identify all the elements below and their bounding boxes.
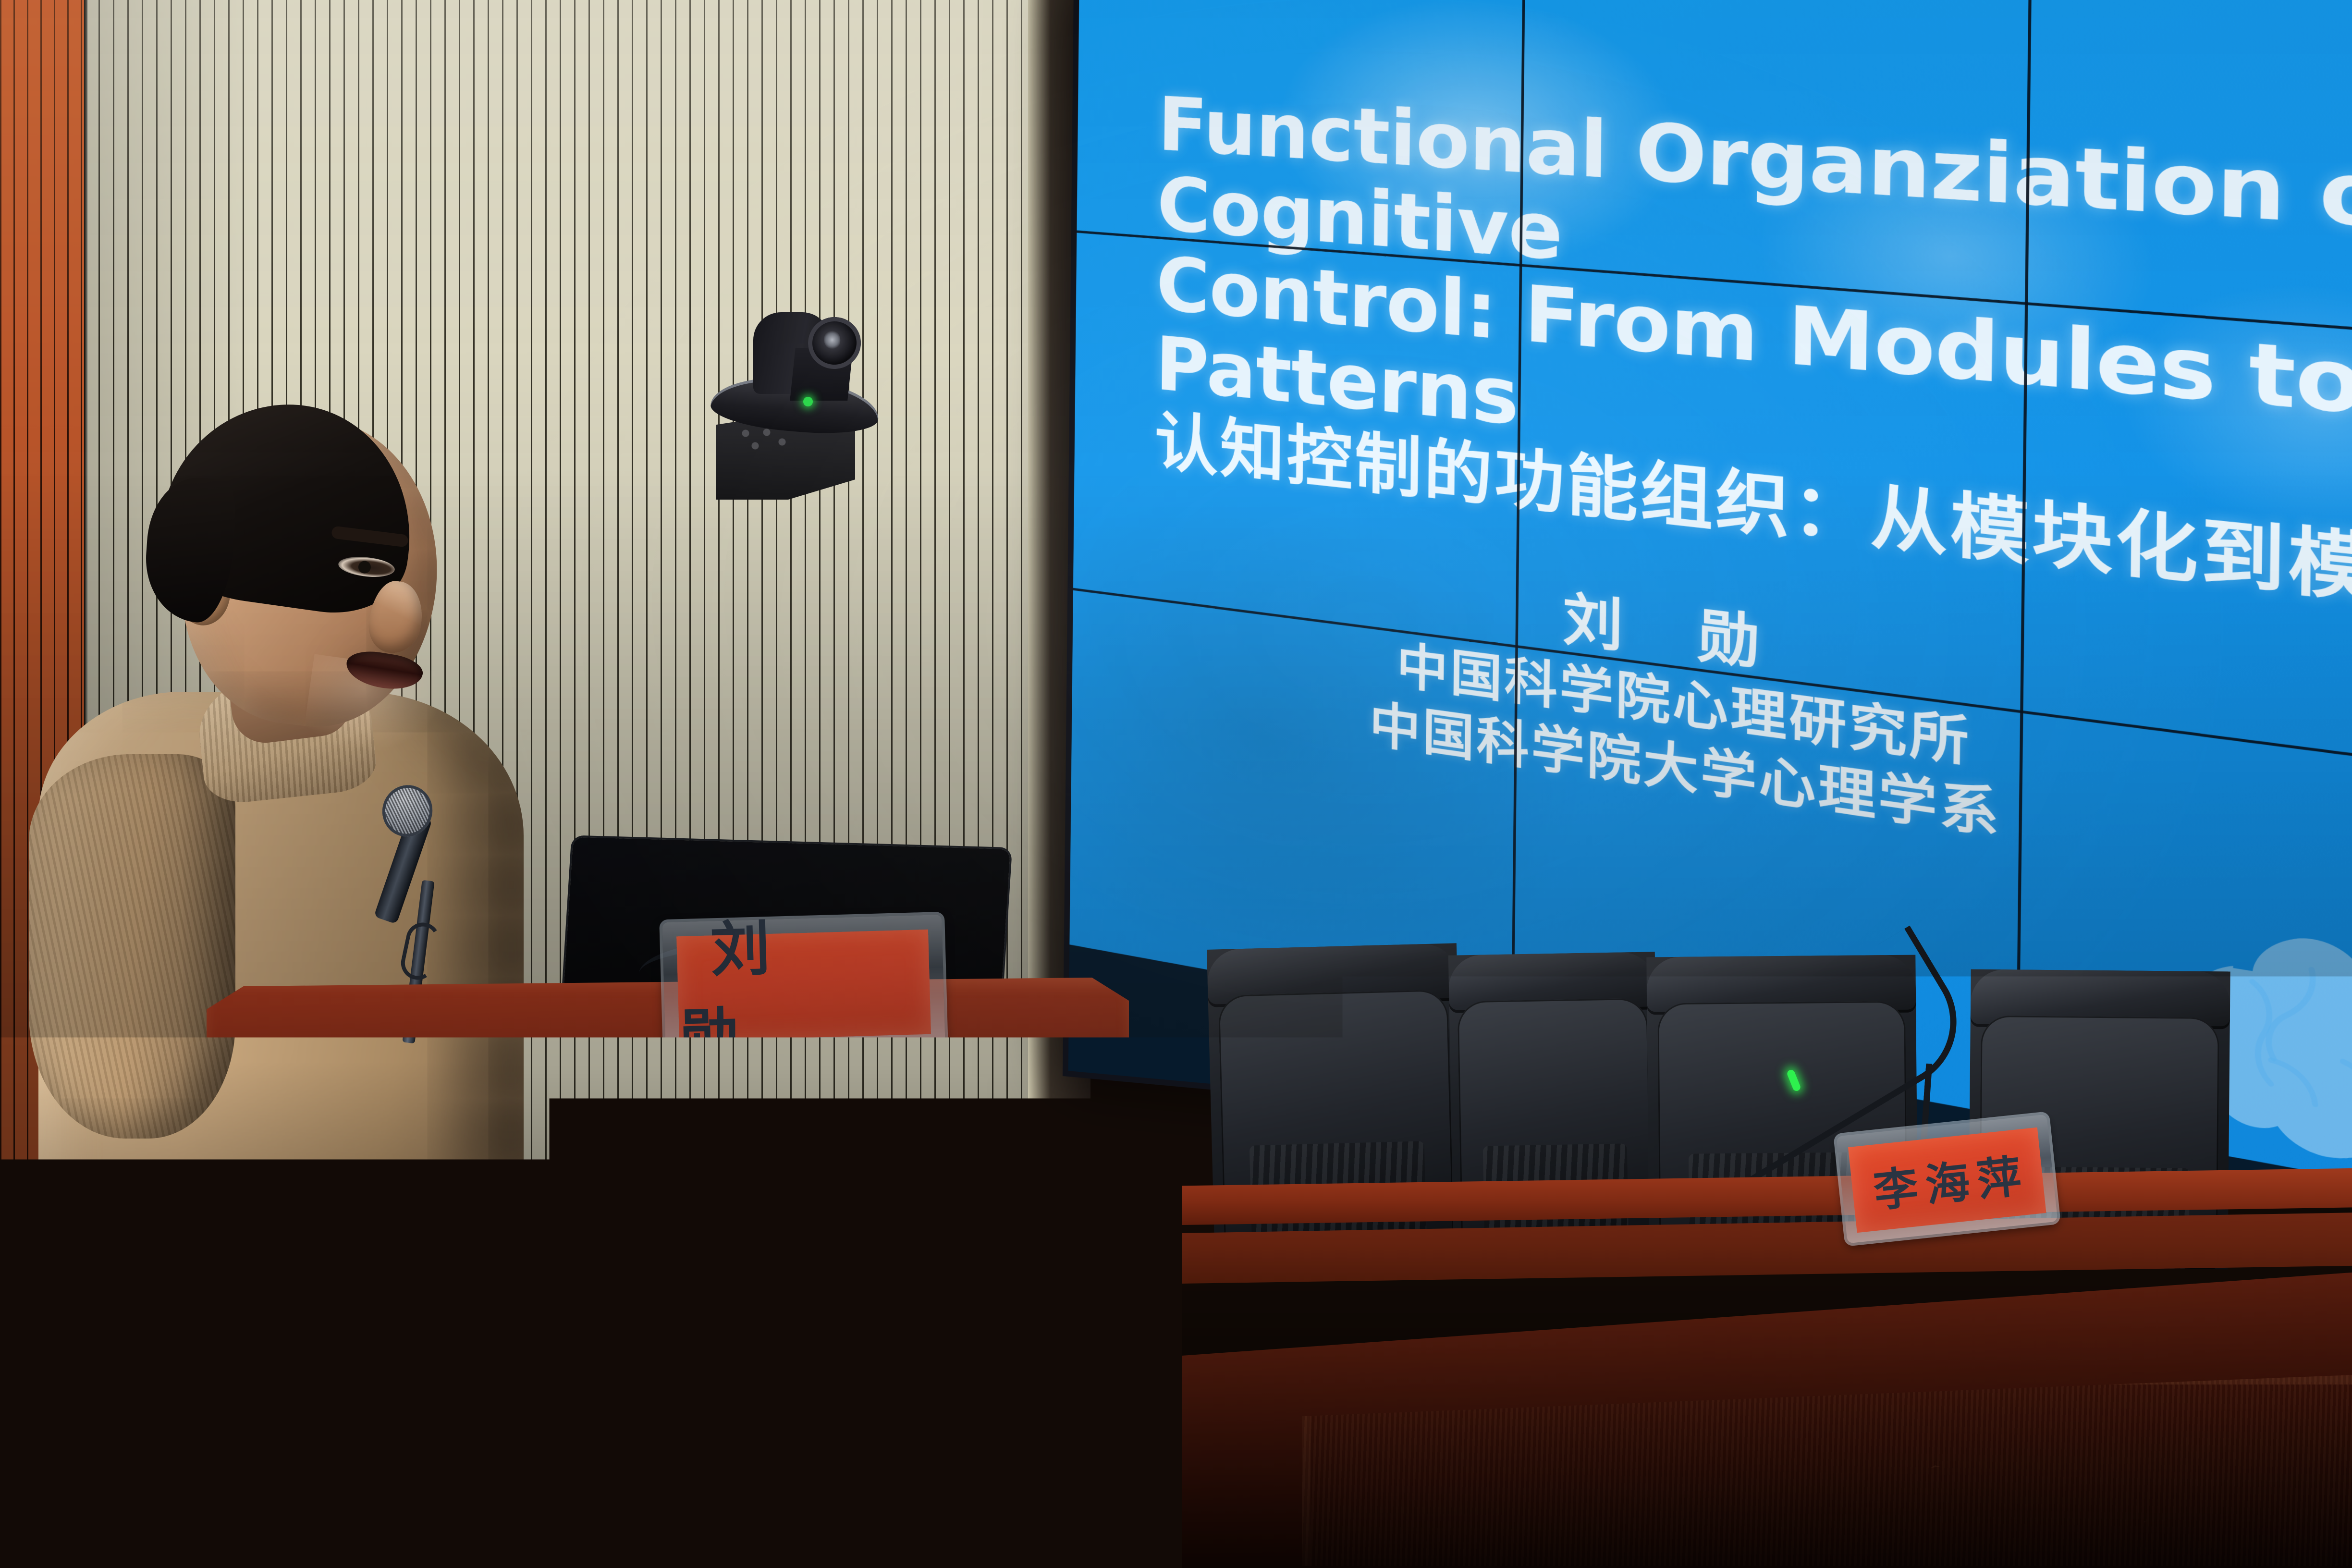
nameplate-table-text: 李海萍 — [1862, 1139, 2032, 1220]
nameplate-card: 刘 勋 — [676, 930, 931, 1041]
camera-status-led — [803, 397, 813, 406]
conference-room-photo: Functional Organziation of Cognitive Con… — [0, 0, 2352, 1568]
bezel-vertical-1 — [1511, 0, 1526, 1026]
conference-table — [1182, 1167, 2352, 1568]
nameplate-table: 李海萍 — [1836, 1115, 2058, 1244]
podium-front-panel — [351, 1285, 1028, 1568]
podium — [144, 978, 1191, 1568]
bezel-vertical-2 — [2015, 0, 2033, 1118]
table-shading — [1182, 1167, 2352, 1568]
bezel-horizontal-1 — [1077, 231, 2352, 349]
nameplate-podium: 刘 勋 — [662, 915, 945, 1053]
ptz-camera[interactable] — [706, 298, 908, 504]
bezel-horizontal-2 — [1073, 588, 2352, 788]
nameplate-podium-text: 刘 勋 — [675, 895, 932, 1075]
